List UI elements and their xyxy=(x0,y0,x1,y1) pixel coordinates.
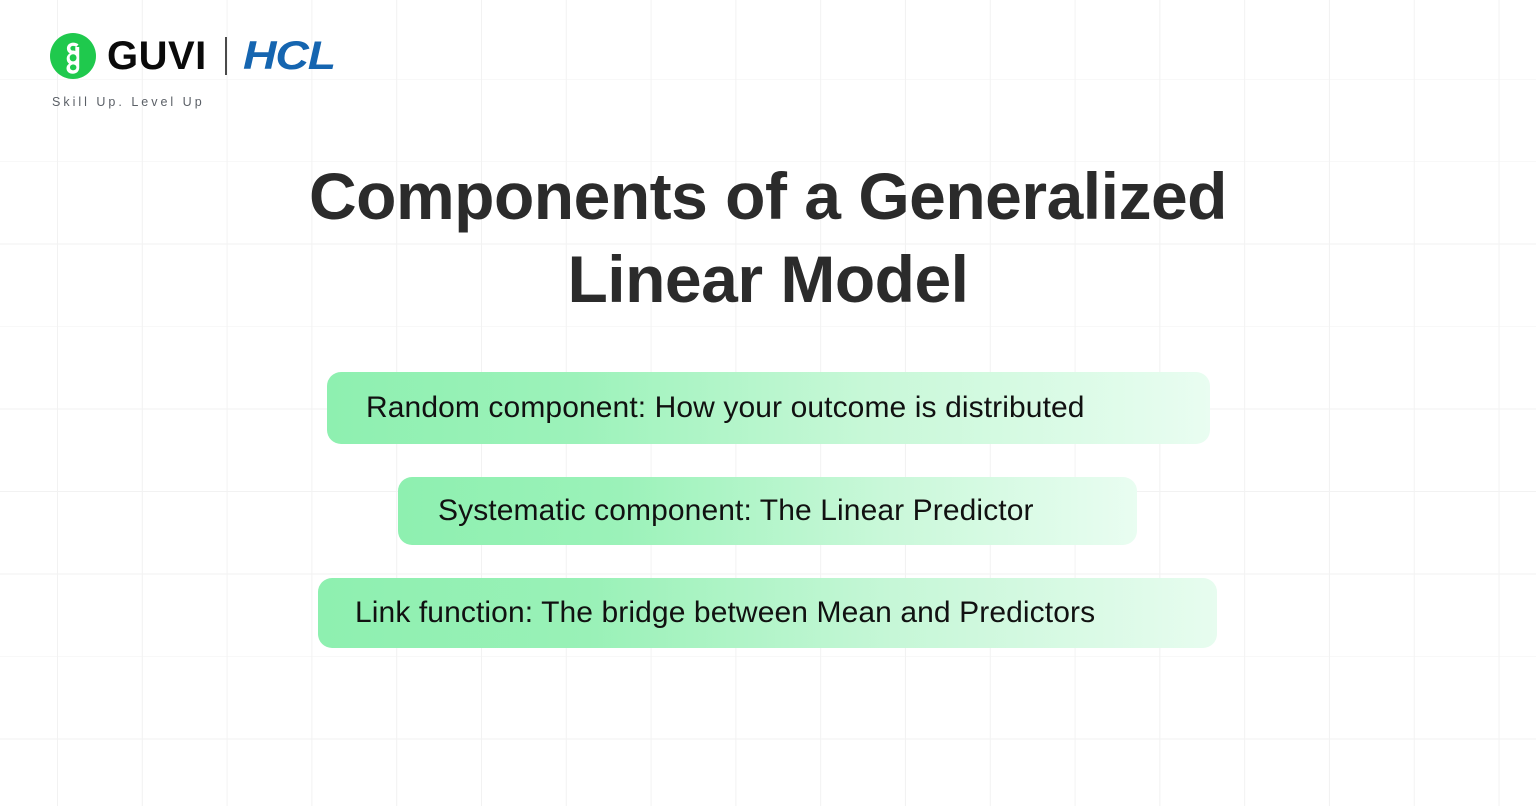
guvi-wordmark: GUVI xyxy=(107,36,207,76)
slide-title: Components of a Generalized Linear Model xyxy=(0,155,1536,321)
hcl-wordmark: HCL xyxy=(243,36,335,76)
vertical-divider-icon xyxy=(225,37,227,75)
component-label: Random component: How your outcome is di… xyxy=(366,393,1085,423)
logo-row: GUVI HCL xyxy=(50,28,322,84)
brand-tagline: Skill Up. Level Up xyxy=(52,96,205,109)
component-item-link-function[interactable]: Link function: The bridge between Mean a… xyxy=(318,578,1217,648)
component-list: Random component: How your outcome is di… xyxy=(0,0,1536,806)
brand-logo-lockup: GUVI HCL Skill Up. Level Up xyxy=(50,28,322,109)
component-label: Systematic component: The Linear Predict… xyxy=(438,496,1034,526)
guvi-g-circle-icon xyxy=(50,33,96,79)
component-item-random[interactable]: Random component: How your outcome is di… xyxy=(327,372,1210,444)
presentation-slide: GUVI HCL Skill Up. Level Up Components o… xyxy=(0,0,1536,806)
component-item-systematic[interactable]: Systematic component: The Linear Predict… xyxy=(398,477,1137,545)
component-label: Link function: The bridge between Mean a… xyxy=(355,598,1095,628)
